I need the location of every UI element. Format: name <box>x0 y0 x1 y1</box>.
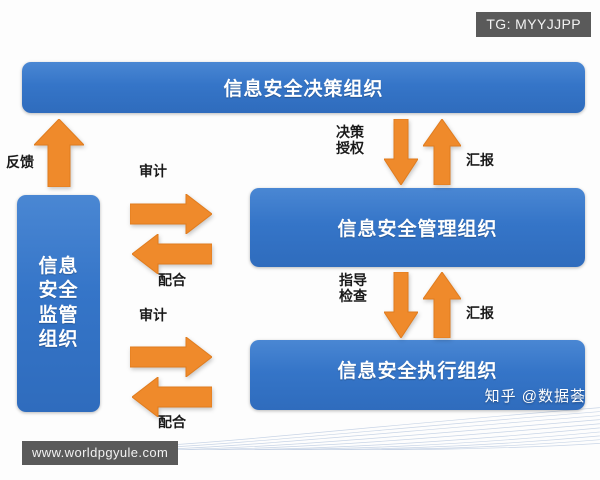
arrow-up-icon-report-lower[interactable] <box>423 272 461 338</box>
watermark-telegram: TG: MYYJJPP <box>476 12 591 37</box>
label-report-lower: 汇报 <box>466 305 494 321</box>
supervision-line-4: 组织 <box>38 328 78 352</box>
box-supervision-organization[interactable]: 信息 安全 监管 组织 <box>17 195 100 412</box>
arrow-down-icon-authorize[interactable] <box>384 119 418 185</box>
watermark-site: www.worldpgyule.com <box>22 441 178 465</box>
label-cooperate-upper: 配合 <box>158 272 186 288</box>
arrow-right-icon-audit-upper[interactable] <box>130 194 212 234</box>
diagram-canvas: 信息安全决策组织 信息安全管理组织 信息安全执行组织 信息 安全 监管 组织 <box>0 0 600 480</box>
supervision-line-3: 监管 <box>38 304 78 328</box>
arrow-down-icon-guide[interactable] <box>384 272 418 338</box>
supervision-line-1: 信息 <box>38 255 78 279</box>
box-decision-organization[interactable]: 信息安全决策组织 <box>22 62 585 113</box>
arrow-right-icon-audit-lower[interactable] <box>130 337 212 377</box>
label-cooperate-lower: 配合 <box>158 414 186 430</box>
box-management-organization[interactable]: 信息安全管理组织 <box>250 188 585 267</box>
arrow-up-icon-report-upper[interactable] <box>423 119 461 185</box>
arrow-left-icon-cooperate-upper[interactable] <box>132 234 212 274</box>
label-feedback: 反馈 <box>6 154 34 170</box>
label-audit-lower: 审计 <box>139 307 167 323</box>
watermark-zhihu: 知乎 @数据荟 <box>485 385 586 406</box>
arrow-up-icon-feedback[interactable] <box>34 119 84 187</box>
label-decision-authorize: 决策 授权 <box>336 124 364 156</box>
label-guide-inspect: 指导 检查 <box>339 272 367 304</box>
supervision-line-2: 安全 <box>38 279 78 303</box>
label-audit-upper: 审计 <box>139 163 167 179</box>
label-report-upper: 汇报 <box>466 152 494 168</box>
arrow-left-icon-cooperate-lower[interactable] <box>132 377 212 417</box>
